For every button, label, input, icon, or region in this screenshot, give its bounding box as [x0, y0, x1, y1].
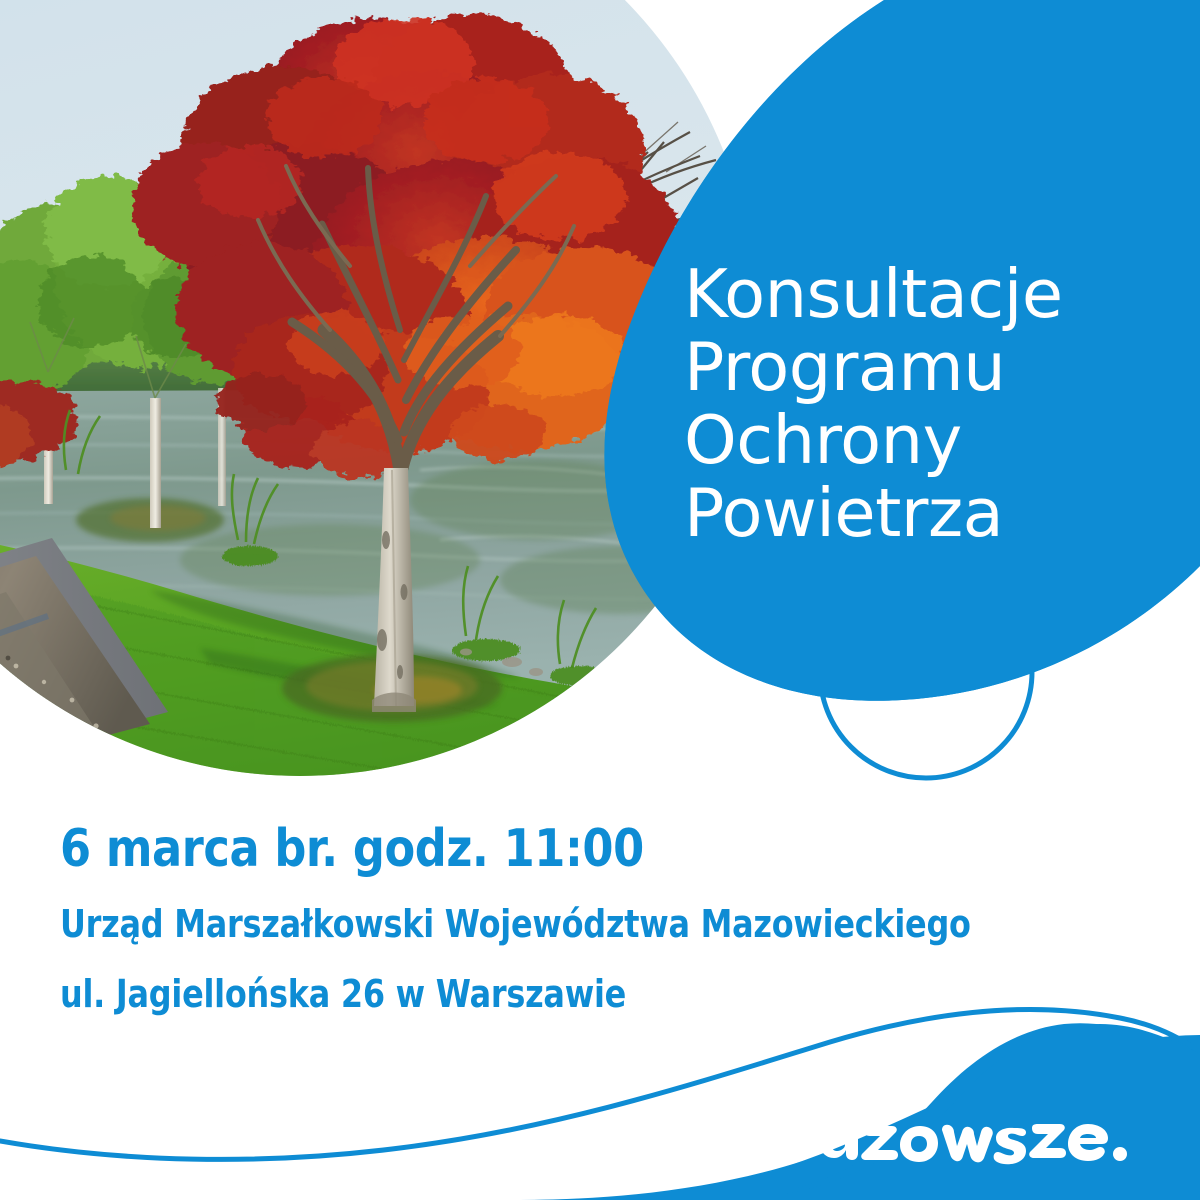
poster-artwork	[0, 0, 1200, 1200]
event-date-time: 6 marca br. godz. 11:00	[60, 820, 997, 878]
event-address: ul. Jagiellońska 26 w Warszawie	[60, 972, 976, 1016]
logo-heart-m-icon	[764, 1104, 829, 1160]
bottom-wave-mass	[520, 1024, 1200, 1200]
event-venue: Urząd Marszałkowski Województwa Mazowiec…	[60, 902, 976, 946]
poster-canvas: Konsultacje Programu Ochrony Powietrza 6…	[0, 0, 1200, 1200]
page-title: Konsultacje Programu Ochrony Powietrza	[684, 258, 1154, 550]
event-details: 6 marca br. godz. 11:00 Urząd Marszałkow…	[60, 820, 1150, 1016]
